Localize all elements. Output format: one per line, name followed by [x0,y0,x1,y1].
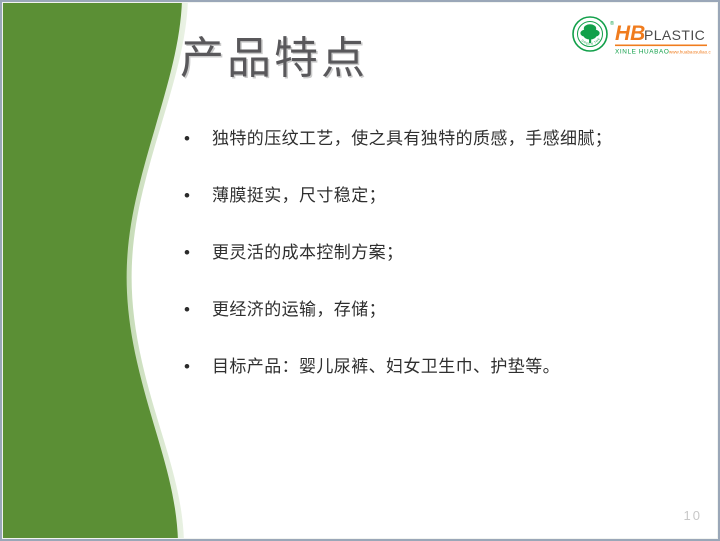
list-item-label: 更灵活的成本控制方案； [212,240,403,266]
list-item: • 更经济的运输，存储； [182,297,692,354]
list-item: • 薄膜挺实，尺寸稳定； [182,183,692,240]
registered-mark-icon: ® [610,20,614,27]
list-item: • 更灵活的成本控制方案； [182,240,692,297]
logo-brand-hb: HB [615,22,645,45]
list-item-label: 更经济的运输，存储； [212,297,386,323]
logo-brand-plastic: PLASTIC [644,27,705,43]
feature-bullet-list: • 独特的压纹工艺，使之具有独特的质感，手感细腻； • 薄膜挺实，尺寸稳定； •… [182,126,692,411]
logo-company-name: XINLE HUABAO [615,49,669,56]
logo-website: www.huabaosuliao.com [669,50,711,55]
bullet-dot-icon: • [182,183,212,209]
bullet-dot-icon: • [182,297,212,323]
page-title: 产品特点 [180,34,368,83]
company-logo: GREEN TREE ® HB PLASTIC XINLE HUABAO www… [571,14,711,62]
list-item: • 目标产品：婴儿尿裤、妇女卫生巾、护垫等。 [182,354,692,411]
list-item-label: 独特的压纹工艺，使之具有独特的质感，手感细腻； [212,126,612,152]
page-number: 10 [684,508,702,523]
list-item: • 独特的压纹工艺，使之具有独特的质感，手感细腻； [182,126,692,183]
green-tree-seal-icon: GREEN TREE [571,14,607,51]
bullet-dot-icon: • [182,126,212,152]
bullet-dot-icon: • [182,354,212,380]
slide-canvas: 产品特点 • 独特的压纹工艺，使之具有独特的质感，手感细腻； • 薄膜挺实，尺寸… [0,0,720,541]
logo-divider-rule [615,45,707,47]
list-item-label: 目标产品：婴儿尿裤、妇女卫生巾、护垫等。 [212,354,560,380]
list-item-label: 薄膜挺实，尺寸稳定； [212,183,386,209]
bullet-dot-icon: • [182,240,212,266]
